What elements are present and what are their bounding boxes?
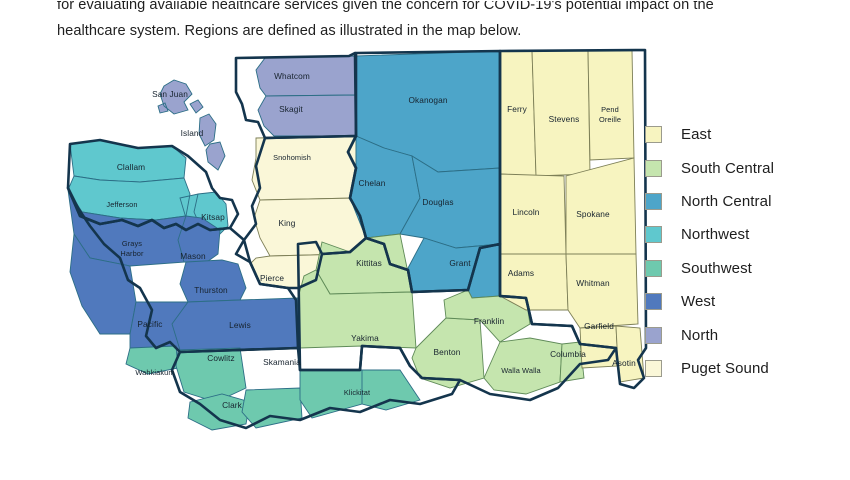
intro-line-2: healthcare system. Regions are defined a…	[57, 18, 757, 44]
county-snohomish[interactable]	[252, 136, 356, 200]
county-label-franklin: Franklin	[474, 316, 505, 326]
legend-item-northwest[interactable]: Northwest	[645, 218, 845, 251]
intro-line-1: for evaluating available healthcare serv…	[57, 0, 757, 18]
legend-item-label: West	[681, 293, 715, 310]
legend-swatch-icon	[645, 193, 662, 210]
washington-region-map: San JuanWhatcomSkagitIslandClallamJeffer…	[60, 48, 650, 438]
county-thurston[interactable]	[180, 260, 246, 302]
county-label-grays-harbor: GraysHarbor	[120, 239, 144, 258]
legend-swatch-icon	[645, 260, 662, 277]
legend-swatch-icon	[645, 160, 662, 177]
county-skamania[interactable]	[242, 388, 302, 428]
county-columbia[interactable]	[560, 342, 584, 382]
county-label-klickitat: Klickitat	[344, 388, 370, 397]
county-label-thurston: Thurston	[194, 285, 228, 295]
legend-item-west[interactable]: West	[645, 285, 845, 318]
county-label-lewis: Lewis	[229, 320, 251, 330]
region-legend: EastSouth CentralNorth CentralNorthwestS…	[645, 118, 845, 385]
county-label-stevens: Stevens	[549, 114, 580, 124]
county-label-walla-walla: Walla Walla	[501, 366, 541, 375]
county-label-san-juan: San Juan	[152, 89, 188, 99]
county-stevens[interactable]	[532, 50, 590, 176]
county-label-pierce: Pierce	[260, 273, 284, 283]
legend-item-label: East	[681, 126, 711, 143]
county-label-wahkiakum: Wahkiakum	[135, 368, 174, 377]
legend-item-south-central[interactable]: South Central	[645, 151, 845, 184]
map-svg: San JuanWhatcomSkagitIslandClallamJeffer…	[60, 48, 650, 438]
county-label-skagit: Skagit	[279, 104, 303, 114]
county-label-asotin: Asotin	[612, 358, 636, 368]
county-label-ferry: Ferry	[507, 104, 528, 114]
county-label-kittitas: Kittitas	[356, 258, 382, 268]
county-label-douglas: Douglas	[422, 197, 453, 207]
county-label-mason: Mason	[180, 251, 206, 261]
county-label-jefferson: Jefferson	[106, 200, 137, 209]
legend-item-label: Puget Sound	[681, 360, 769, 377]
legend-item-label: North Central	[681, 193, 772, 210]
county-label-skamania: Skamania	[263, 357, 301, 367]
legend-item-label: North	[681, 327, 718, 344]
county-adams[interactable]	[500, 254, 568, 310]
county-label-columbia: Columbia	[550, 349, 586, 359]
county-asotin[interactable]	[616, 326, 644, 382]
legend-item-label: Northwest	[681, 226, 749, 243]
county-label-cowlitz: Cowlitz	[207, 353, 234, 363]
legend-item-north[interactable]: North	[645, 318, 845, 351]
county-label-grant: Grant	[449, 258, 471, 268]
county-label-benton: Benton	[434, 347, 461, 357]
county-label-lincoln: Lincoln	[513, 207, 540, 217]
legend-swatch-icon	[645, 293, 662, 310]
county-label-okanogan: Okanogan	[408, 95, 447, 105]
county-label-pacific: Pacific	[137, 319, 162, 329]
county-label-garfield: Garfield	[584, 321, 614, 331]
county-king[interactable]	[254, 198, 366, 256]
county-label-king: King	[278, 218, 295, 228]
county-label-yakima: Yakima	[351, 333, 379, 343]
county-label-clark: Clark	[222, 400, 243, 410]
county-whitman[interactable]	[566, 254, 638, 328]
county-label-kitsap: Kitsap	[201, 212, 225, 222]
county-label-pend-oreille: PendOreille	[599, 105, 621, 124]
county-label-whatcom: Whatcom	[274, 71, 310, 81]
county-skagit[interactable]	[258, 95, 356, 136]
county-label-island: Island	[181, 128, 204, 138]
county-label-clallam: Clallam	[117, 162, 145, 172]
legend-swatch-icon	[645, 360, 662, 377]
county-label-snohomish: Snohomish	[273, 153, 311, 162]
legend-swatch-icon	[645, 226, 662, 243]
county-label-adams: Adams	[508, 268, 534, 278]
legend-item-east[interactable]: East	[645, 118, 845, 151]
legend-swatch-icon	[645, 327, 662, 344]
county-island[interactable]	[199, 114, 225, 170]
legend-item-southwest[interactable]: Southwest	[645, 252, 845, 285]
legend-item-label: Southwest	[681, 260, 752, 277]
intro-paragraph: for evaluating available healthcare serv…	[57, 0, 757, 44]
legend-item-label: South Central	[681, 160, 774, 177]
county-label-spokane: Spokane	[576, 209, 610, 219]
legend-item-puget-sound[interactable]: Puget Sound	[645, 352, 845, 385]
county-label-whitman: Whitman	[576, 278, 610, 288]
county-label-chelan: Chelan	[359, 178, 386, 188]
legend-swatch-icon	[645, 126, 662, 143]
legend-item-north-central[interactable]: North Central	[645, 185, 845, 218]
